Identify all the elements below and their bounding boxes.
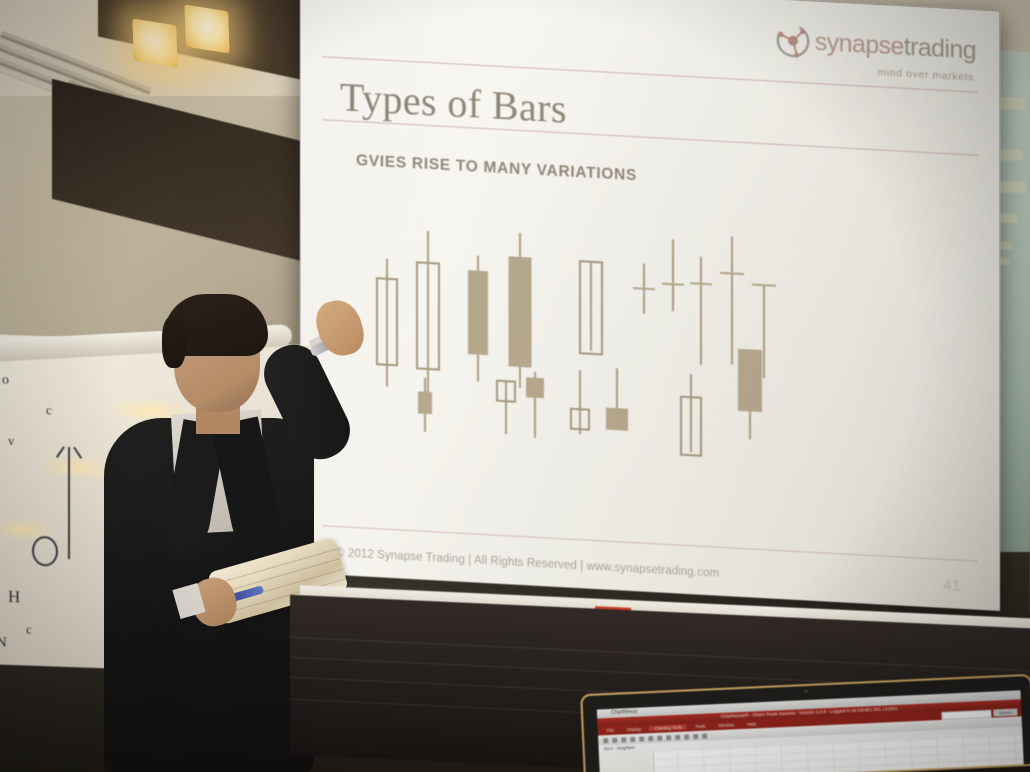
- candle-inverted-hammer-filled: [738, 349, 762, 440]
- candle-body: [606, 408, 628, 431]
- zoom-out-icon[interactable]: [675, 734, 680, 739]
- candle-wick: [763, 284, 765, 378]
- candle-body: [416, 261, 440, 370]
- whiteboard-stroke: v: [8, 433, 15, 449]
- candle-hollow-marubozu: [581, 260, 601, 351]
- candle-dragonfly-doji: [720, 236, 744, 365]
- candle-tall-hollow-bar: [418, 230, 438, 392]
- menu-item-tools[interactable]: Tools: [690, 723, 710, 729]
- projected-slide: synapsetrading mind over markets Types o…: [300, 0, 1000, 611]
- ruler-icon[interactable]: [621, 737, 626, 742]
- ceiling-light-icon: [184, 4, 229, 53]
- webcam-icon: [805, 690, 808, 693]
- trendline-icon[interactable]: [612, 737, 617, 742]
- menu-item-charting-tools[interactable]: Charting Tools: [649, 724, 687, 731]
- candle-shooting-star-filled: [606, 368, 628, 431]
- zoom-in-icon[interactable]: [666, 735, 671, 740]
- candle-medium-filled-bar: [468, 255, 488, 382]
- candle-wick: [700, 257, 702, 365]
- candle-body: [508, 256, 531, 367]
- candle-body: [496, 380, 516, 403]
- whiteboard-circle-icon: [32, 536, 58, 567]
- whiteboard-stroke: o: [2, 373, 9, 389]
- candle-body: [468, 270, 488, 355]
- whiteboard-letter: N: [0, 634, 7, 651]
- candle-shooting-star-hollow: [572, 370, 588, 435]
- slide-page-number: 41: [943, 577, 960, 595]
- candle-spinning-top-filled: [418, 377, 432, 432]
- shape-icon[interactable]: [657, 735, 662, 740]
- whiteboard-letter: c: [26, 622, 32, 638]
- candle-hanging-man-filled: [526, 371, 544, 438]
- candle-wick: [731, 236, 733, 364]
- whiteboard-letter: H: [8, 587, 20, 607]
- grid-icon[interactable]: [702, 733, 707, 738]
- menu-item-help[interactable]: Help: [742, 721, 761, 727]
- candle-body: [570, 408, 590, 431]
- candle-cross-doji-long-upper: [662, 239, 684, 312]
- menu-item-display[interactable]: Display: [622, 726, 647, 732]
- candle-body: [738, 349, 762, 412]
- laptop-screen[interactable]: ChartNexus ChartNexus® - Share Trade Sav…: [597, 690, 1024, 772]
- candle-inverted-hammer-hollow: [682, 374, 700, 453]
- candle-body: [579, 260, 603, 355]
- candle-long-legged-doji: [690, 256, 712, 365]
- menu-item-window[interactable]: Window: [713, 722, 739, 728]
- candle-hanging-man-hollow: [498, 380, 514, 435]
- cursor-icon[interactable]: [603, 738, 608, 743]
- text-icon[interactable]: [648, 736, 653, 741]
- ceiling-light-icon: [132, 18, 177, 67]
- search-button[interactable]: Search: [993, 708, 1017, 716]
- candle-wick: [672, 239, 674, 311]
- candle-body: [418, 391, 432, 414]
- candle-cross-doji-short: [633, 263, 655, 314]
- fib-icon[interactable]: [639, 736, 644, 741]
- dot-icon[interactable]: [630, 736, 635, 741]
- candle-body: [526, 377, 544, 398]
- candlestick-diagram: [300, 0, 1000, 611]
- symbol-listing-panel[interactable]: [599, 751, 655, 772]
- redo-icon[interactable]: [693, 733, 698, 738]
- undo-icon[interactable]: [684, 734, 689, 739]
- whiteboard-stroke: c: [46, 402, 52, 418]
- candle-body: [680, 396, 702, 457]
- whiteboard-arrow-icon: [68, 447, 70, 559]
- screenshot-root: synapsetrading mind over markets Types o…: [0, 0, 1030, 772]
- menu-item-file[interactable]: File: [602, 728, 619, 734]
- candle-tall-filled-bar: [508, 232, 531, 388]
